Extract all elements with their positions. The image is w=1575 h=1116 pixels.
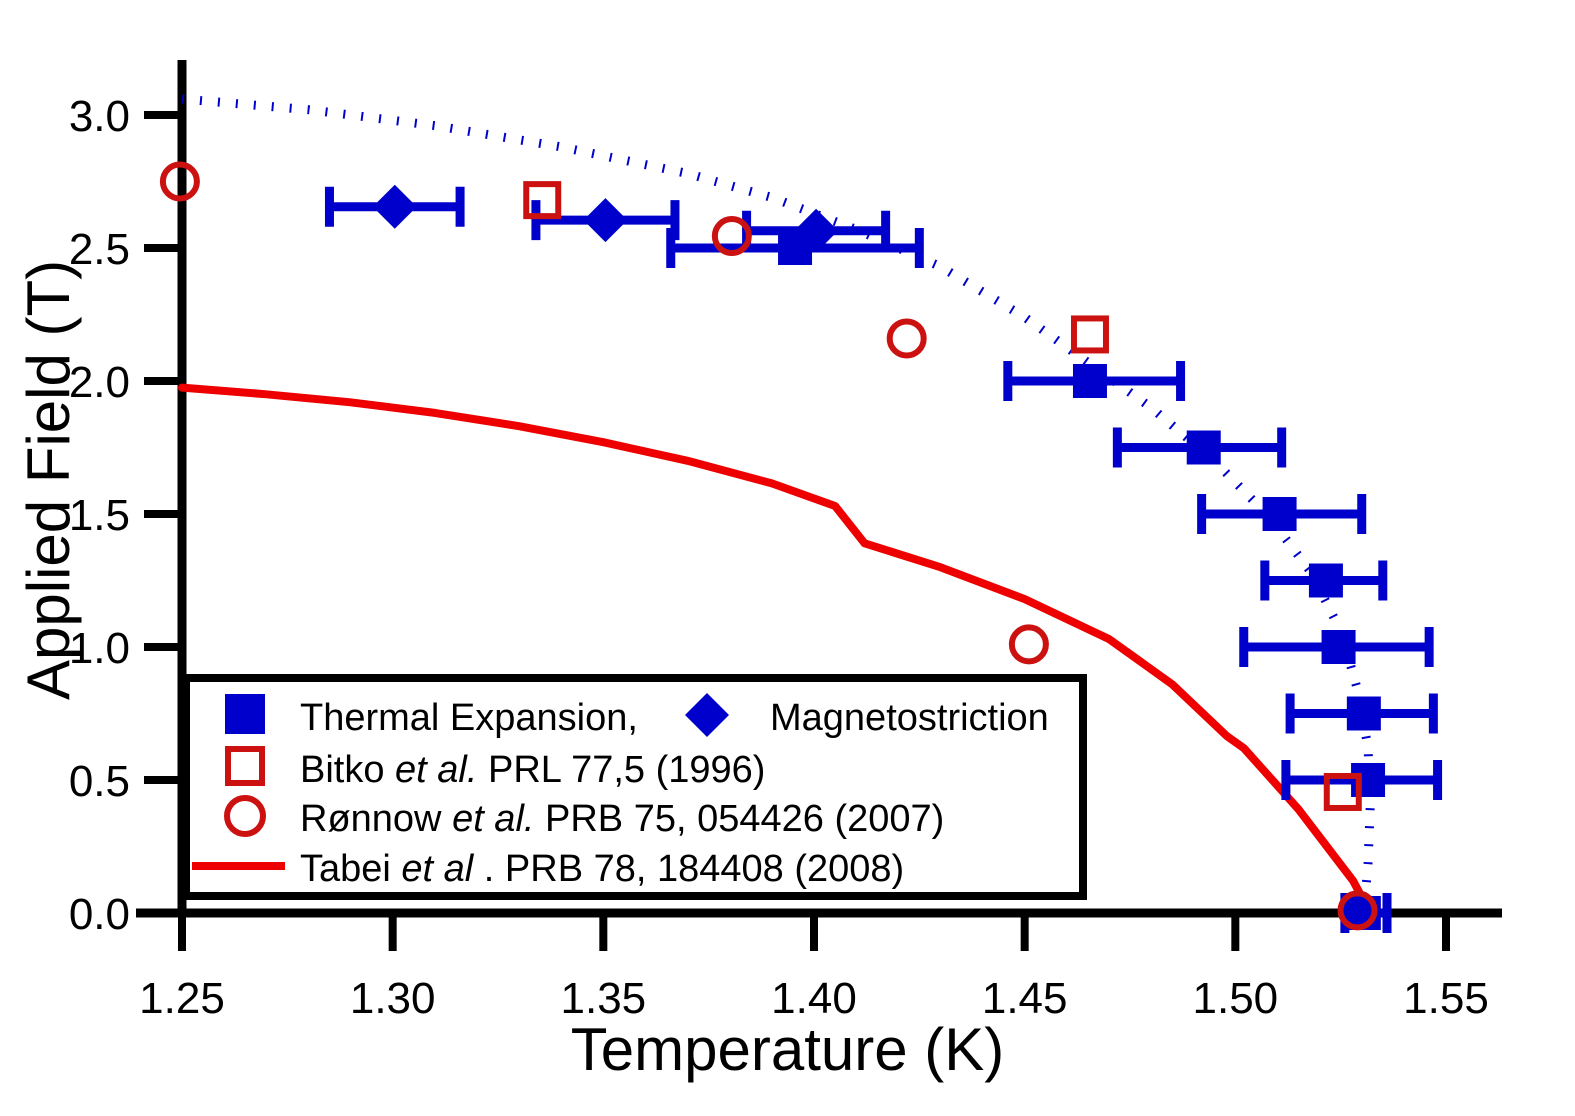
- marker-thermal-expansion: [1347, 697, 1381, 731]
- marker-ronnow: [890, 321, 924, 355]
- chart-root: Applied Field (T) Temperature (K) 0.00.5…: [0, 0, 1575, 1116]
- marker-ronnow: [1012, 627, 1046, 661]
- legend-label-magnetostriction: Magnetostriction: [770, 697, 1049, 739]
- legend-label-ronnow: Rønnow et al. PRB 75, 054426 (2007): [300, 798, 944, 840]
- legend-marker-thermal-expansion[interactable]: [225, 694, 265, 734]
- marker-bitko: [1074, 318, 1106, 350]
- marker-thermal-expansion: [1187, 431, 1221, 465]
- marker-thermal-expansion: [1309, 564, 1343, 598]
- marker-thermal-expansion: [1073, 364, 1107, 398]
- marker-thermal-expansion: [1322, 630, 1356, 664]
- legend-label-tabei: Tabei et al . PRB 78, 184408 (2008): [300, 848, 904, 890]
- marker-magnetostriction: [583, 198, 627, 242]
- y-tick-label-0.5: 0.5: [69, 757, 130, 806]
- x-axis-label: Temperature (K): [0, 1015, 1575, 1084]
- y-tick-label-0.0: 0.0: [69, 890, 130, 939]
- plot-canvas: 0.00.51.01.52.02.53.01.251.301.351.401.4…: [0, 0, 1575, 1116]
- marker-magnetostriction: [373, 185, 417, 229]
- legend-label-thermal-expansion: Thermal Expansion,: [300, 697, 638, 739]
- marker-thermal-expansion: [1263, 497, 1297, 531]
- legend-box[interactable]: Thermal Expansion,MagnetostrictionBitko …: [186, 678, 1083, 896]
- y-tick-label-3.0: 3.0: [69, 92, 130, 141]
- y-axis-label: Applied Field (T): [14, 260, 83, 700]
- legend-label-bitko: Bitko et al. PRL 77,5 (1996): [300, 749, 765, 791]
- marker-bitko: [526, 184, 558, 216]
